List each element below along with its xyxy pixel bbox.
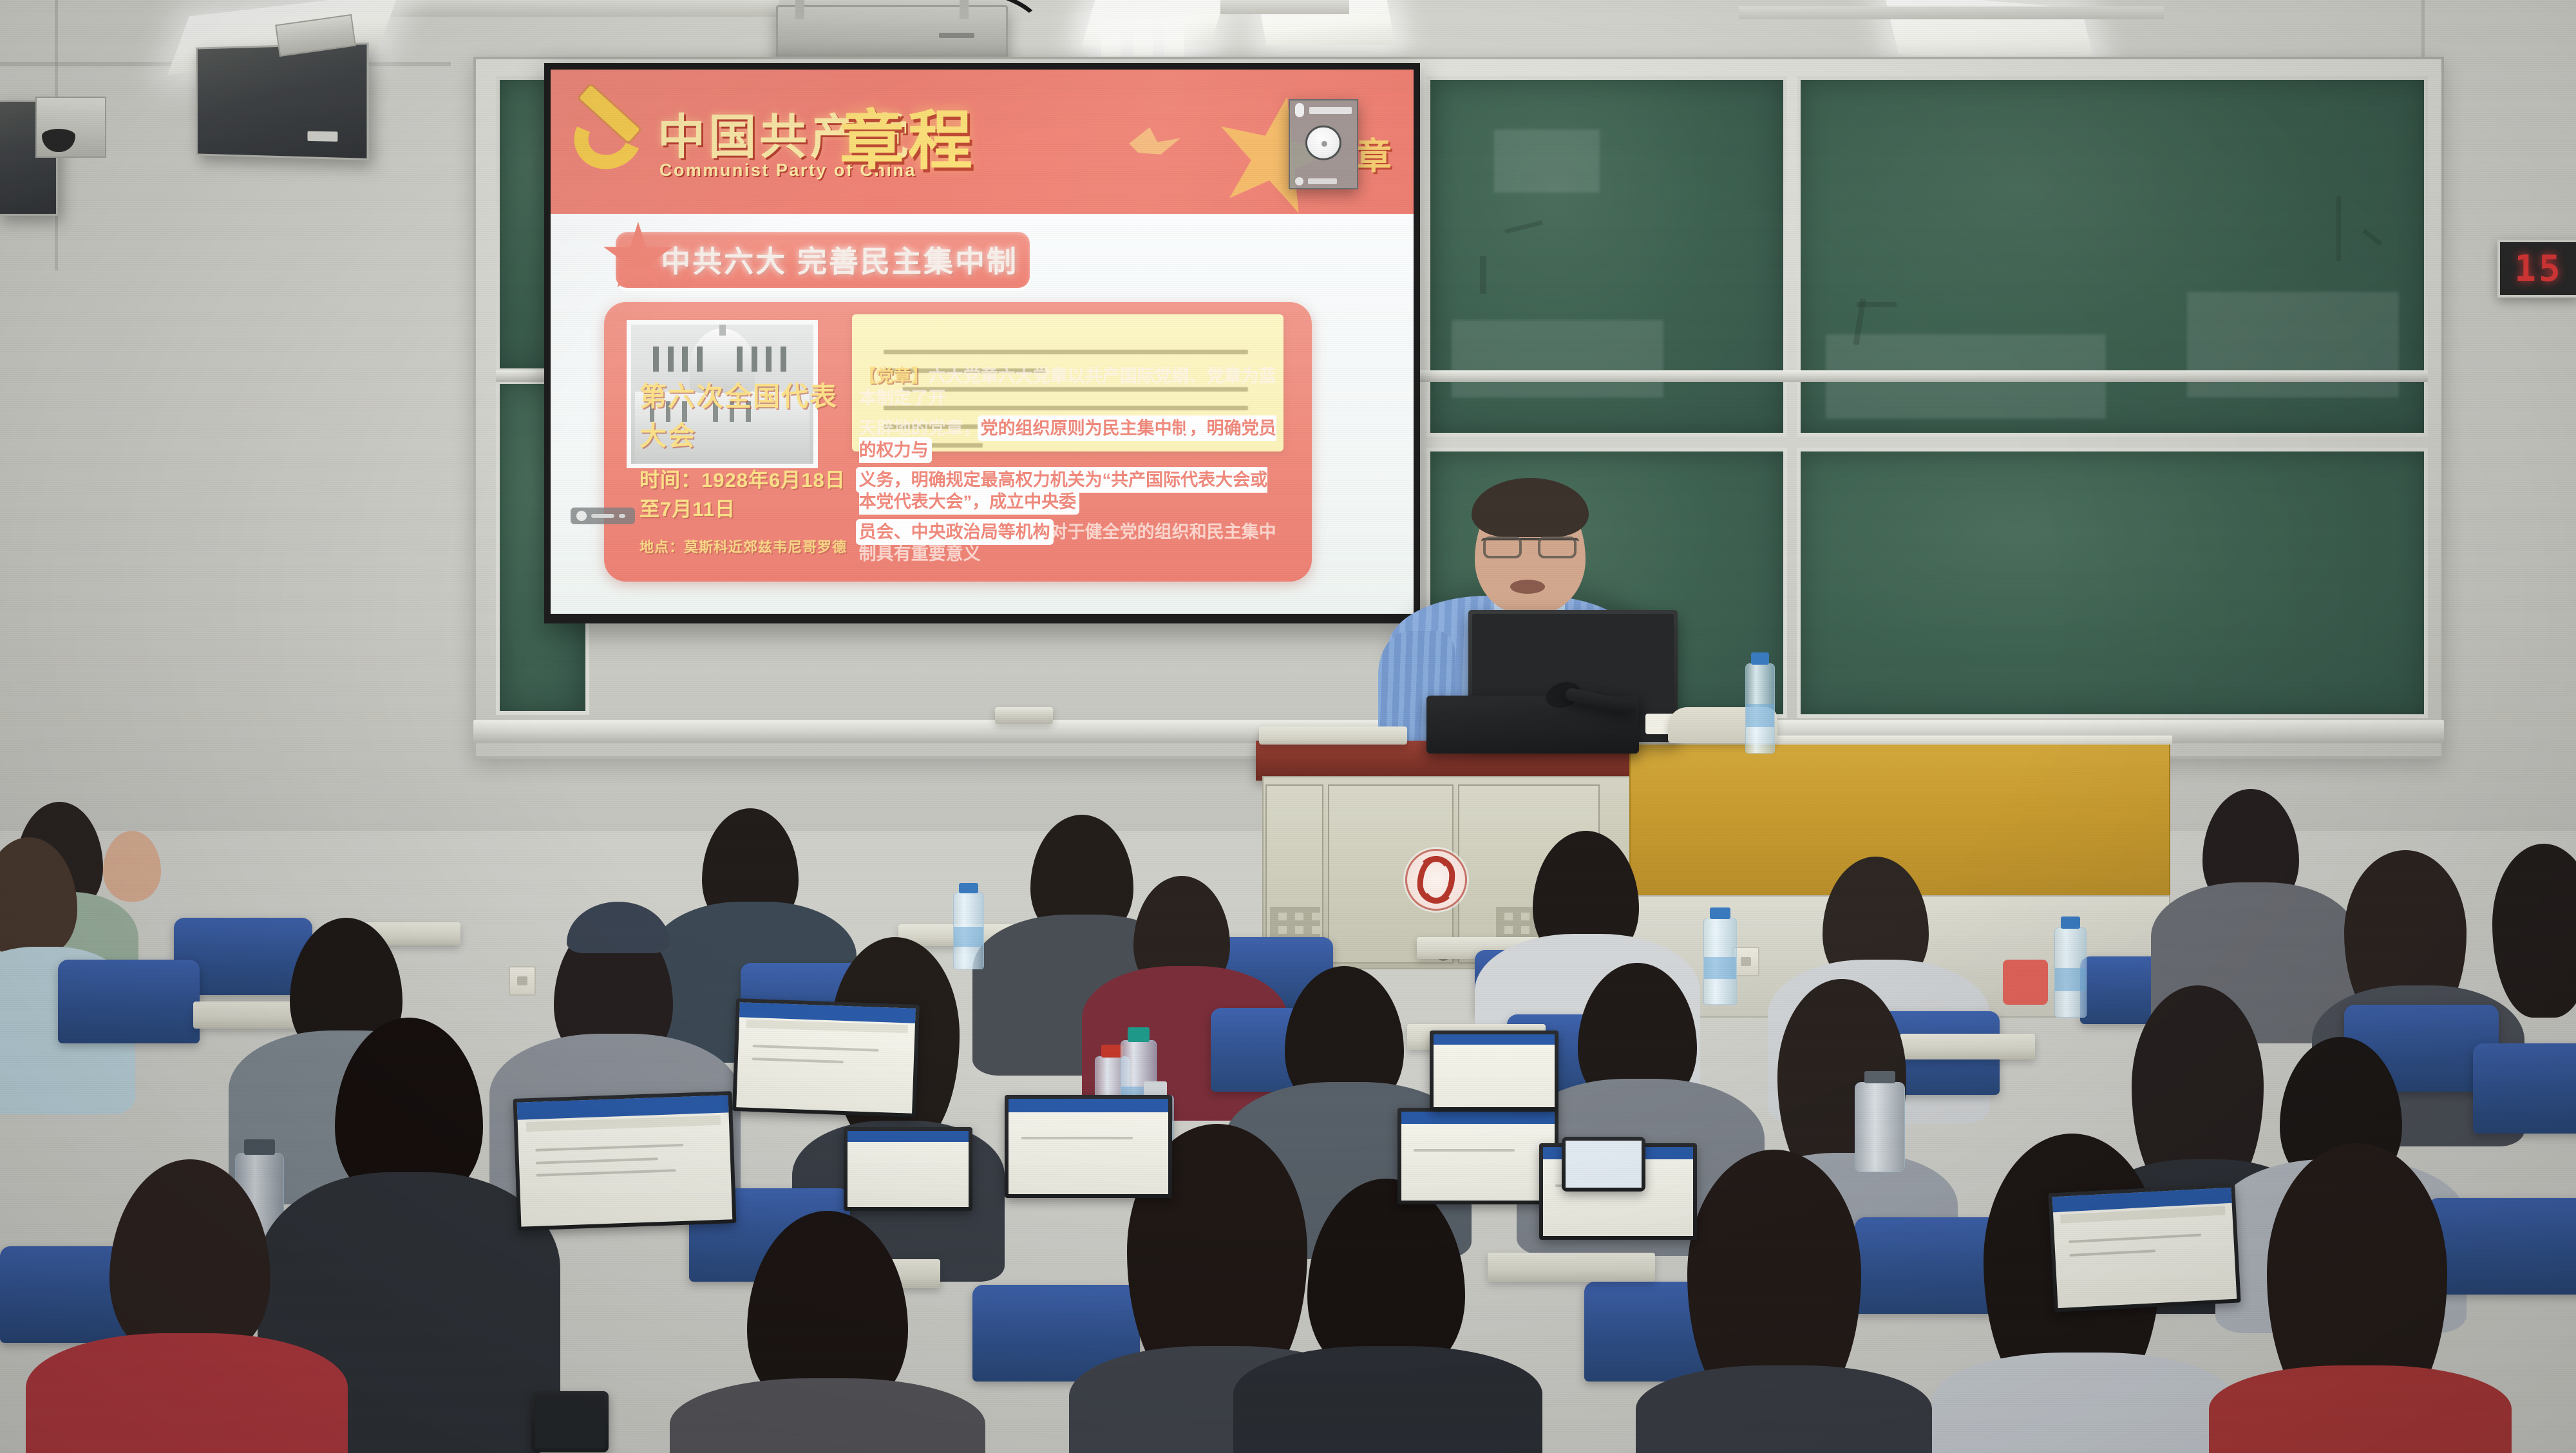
paragraph-line-4-highlight: 员会、中央政治局等机构 bbox=[859, 522, 1050, 542]
speaker-led bbox=[308, 131, 338, 142]
laptop-text-line bbox=[1021, 1137, 1133, 1139]
lecturer-mouth bbox=[1510, 580, 1545, 594]
photo-window bbox=[697, 347, 703, 372]
projector-mount-right bbox=[960, 0, 969, 19]
laptop-screen bbox=[736, 1002, 916, 1113]
student-thermos-3 bbox=[1855, 1082, 1905, 1172]
presenter-toolbar[interactable] bbox=[571, 508, 635, 524]
student-body-c3 bbox=[670, 1378, 985, 1453]
student-head-a10 bbox=[2492, 844, 2576, 1018]
toolbar-round-button[interactable] bbox=[576, 511, 587, 521]
chalk-stroke-b2 bbox=[1857, 302, 1897, 307]
bottle-cap bbox=[2061, 916, 2081, 929]
laptop-text-line bbox=[2069, 1234, 2201, 1244]
paragraph-row-2: 天辟地的党章，党的组织原则为民主集中制，明确党员的权力与 bbox=[859, 418, 1283, 462]
dialog-status-icon bbox=[1295, 177, 1303, 185]
light-rail-1 bbox=[335, 0, 779, 17]
wall-speaker-center bbox=[196, 43, 368, 160]
bottle-cap bbox=[1128, 1027, 1150, 1041]
university-crest-icon bbox=[1405, 849, 1467, 911]
slide-paragraph-block: 【党章】六大党章六大党章以共产国际党纲、党章为蓝本制定了开 天辟地的党章，党的组… bbox=[859, 366, 1283, 573]
podium-keyboard[interactable] bbox=[1259, 726, 1407, 745]
laptop-screen bbox=[1401, 1112, 1555, 1201]
photo-dome-spire bbox=[719, 321, 726, 336]
clock-value: 15 bbox=[2514, 248, 2562, 290]
dialog-statusbar bbox=[1290, 175, 1357, 189]
laptop-screen bbox=[848, 1131, 969, 1207]
student-laptop-8[interactable] bbox=[844, 1127, 972, 1211]
congress-place: 地点：莫斯科近郊兹韦尼哥罗德 bbox=[639, 536, 852, 556]
laptop-text-line bbox=[536, 1144, 684, 1152]
bottle-label bbox=[2055, 968, 2086, 991]
chalk-stroke-a1 bbox=[1504, 220, 1543, 234]
toolbar-segment[interactable] bbox=[619, 514, 625, 518]
student-bottle-2 bbox=[1703, 918, 1737, 1005]
student-tablet[interactable] bbox=[1562, 1137, 1645, 1192]
student-laptop-4[interactable] bbox=[1397, 1108, 1558, 1204]
laptop-text-line bbox=[2070, 1249, 2155, 1257]
chalk-stroke-b4 bbox=[2363, 229, 2383, 245]
photo-window bbox=[668, 347, 674, 372]
dialog-knob-control[interactable] bbox=[1305, 126, 1341, 160]
paragraph-tag: 【党章】 bbox=[859, 366, 929, 386]
chalk-stroke-a2 bbox=[1480, 256, 1486, 294]
hammer-and-sickle-emblem-icon bbox=[571, 93, 648, 180]
laptop-text-line bbox=[752, 1045, 879, 1052]
laptop-text-line bbox=[536, 1169, 676, 1177]
student-body-c6 bbox=[1636, 1365, 1932, 1453]
laptop-screen bbox=[2052, 1188, 2237, 1308]
decorative-star-small-icon bbox=[1129, 128, 1180, 155]
bottle-cap bbox=[1710, 907, 1730, 920]
slide-meta-block: 第六次全国代表大会 时间：1928年6月18日至7月11日 地点：莫斯科近郊兹韦… bbox=[639, 375, 852, 571]
chair-row-c-5[interactable] bbox=[2428, 1198, 2576, 1295]
photo-window bbox=[781, 347, 786, 372]
laptop-text-line bbox=[752, 1058, 844, 1063]
paragraph-row-4: 员会、中央政治局等机构对于健全党的组织和民主集中制具有重要意义 bbox=[859, 522, 1283, 565]
laptop-titlebar bbox=[1434, 1034, 1555, 1045]
laptop-text-line bbox=[536, 1157, 658, 1164]
slide-body: 中共六大 完善民主集中制 bbox=[551, 214, 1414, 614]
student-cap-b2 bbox=[567, 902, 670, 953]
lecturer-water-bottle bbox=[1745, 663, 1775, 754]
laptop-screen bbox=[1434, 1034, 1555, 1107]
chair-row-b-1[interactable] bbox=[58, 960, 200, 1043]
bottle-cap bbox=[959, 883, 978, 894]
student-laptop-1[interactable] bbox=[513, 1091, 737, 1231]
student-laptop-7[interactable] bbox=[1430, 1030, 1558, 1111]
wall-socket-1 bbox=[509, 966, 536, 996]
dialog-titlebar[interactable] bbox=[1290, 100, 1357, 120]
time-label: 时间： bbox=[639, 469, 701, 491]
photo-window bbox=[752, 347, 757, 372]
laptop-screen bbox=[517, 1095, 733, 1226]
student-phone[interactable] bbox=[531, 1391, 609, 1452]
congress-name: 第六次全国代表大会 bbox=[639, 375, 852, 453]
student-body-c5 bbox=[1233, 1346, 1542, 1453]
place-value: 莫斯科近郊兹韦尼哥罗德 bbox=[684, 539, 847, 555]
light-rail-2 bbox=[1220, 0, 1349, 14]
chalk-smudge-a1 bbox=[1494, 129, 1600, 193]
place-label: 地点： bbox=[639, 539, 684, 555]
congress-time: 时间：1928年6月18日至7月11日 bbox=[639, 464, 852, 522]
light-rail-3 bbox=[1739, 6, 2164, 19]
projection-screen[interactable]: 中国共产党 Communist Party of China 章程 章 中共六大… bbox=[551, 70, 1414, 614]
paragraph-line-2-highlight-a: 党的组织原则为民主集中制 bbox=[981, 419, 1189, 438]
student-laptop-3[interactable] bbox=[1005, 1095, 1172, 1198]
slide-content-card: 第六次全国代表大会 时间：1928年6月18日至7月11日 地点：莫斯科近郊兹韦… bbox=[604, 302, 1312, 582]
laptop-titlebar bbox=[1009, 1099, 1168, 1112]
bottle-label bbox=[1704, 957, 1736, 980]
bottle-cap bbox=[1101, 1045, 1122, 1058]
chalkboard-panel-d bbox=[1797, 448, 2428, 718]
bottle-label bbox=[1746, 704, 1774, 727]
row-b-desk-3 bbox=[1900, 1034, 2035, 1059]
lecturer-glasses-lens-left bbox=[1483, 537, 1522, 558]
paragraph-line-3-highlight: 义务，明确规定最高权力机关为“共产国际代表大会或本党代表大会”，成立中央委 bbox=[859, 470, 1268, 511]
student-bottle-3 bbox=[2054, 927, 2087, 1018]
student-body-c8 bbox=[2209, 1365, 2512, 1453]
lecturer-glasses-lens-right bbox=[1538, 537, 1577, 558]
laptop-titlebar bbox=[1401, 1112, 1555, 1124]
chair-row-c-6[interactable] bbox=[0, 1246, 129, 1343]
student-body-c2 bbox=[26, 1333, 348, 1453]
thermos-cap bbox=[1864, 1071, 1896, 1083]
toolbar-segment[interactable] bbox=[591, 514, 614, 518]
student-face-a1 bbox=[103, 831, 161, 902]
laptop-screen bbox=[1009, 1099, 1168, 1194]
student-laptop-2[interactable] bbox=[732, 998, 920, 1117]
slide-section-title: 中共六大 完善民主集中制 bbox=[661, 238, 1018, 281]
chalkboard-panel-b bbox=[1797, 76, 2428, 437]
slide-header-right-mark: 章 bbox=[1356, 128, 1393, 180]
chalk-smudge-a2 bbox=[1452, 320, 1663, 398]
student-mug bbox=[2003, 960, 2048, 1005]
photo-window bbox=[737, 347, 743, 372]
photo-window bbox=[682, 347, 688, 372]
tablet-screen bbox=[1566, 1141, 1642, 1188]
projector-control-dialog[interactable] bbox=[1289, 99, 1358, 189]
slide-section-title-pill: 中共六大 完善民主集中制 bbox=[616, 232, 1030, 288]
thermos-cap bbox=[244, 1139, 274, 1155]
speaker-bracket-left bbox=[35, 97, 106, 158]
dialog-icon bbox=[1295, 103, 1304, 117]
chalkboard-eraser bbox=[995, 707, 1053, 724]
lecture-hall-scene: 中国共产党 Communist Party of China 章程 章 中共六大… bbox=[0, 0, 2576, 1453]
phone-screen bbox=[535, 1395, 605, 1448]
laptop-text-line bbox=[1414, 1149, 1515, 1152]
photo-window bbox=[766, 347, 772, 372]
dialog-title-text bbox=[1309, 107, 1352, 114]
row-c-desk-1 bbox=[1488, 1253, 1655, 1282]
paragraph-row-3: 义务，明确规定最高权力机关为“共产国际代表大会或本党代表大会”，成立中央委 bbox=[859, 470, 1283, 513]
quote-line bbox=[884, 350, 1248, 354]
slide-header: 中国共产党 Communist Party of China 章程 章 bbox=[551, 70, 1414, 214]
wall-digital-clock: 15 bbox=[2497, 240, 2576, 298]
bottle-label bbox=[954, 927, 983, 947]
student-body-c7 bbox=[1932, 1353, 2235, 1453]
chalkboard-panel-a bbox=[1426, 76, 1787, 437]
projector-mount-left bbox=[795, 0, 804, 19]
chalk-stroke-b3 bbox=[2336, 196, 2341, 261]
dialog-status-text bbox=[1308, 178, 1338, 184]
bottle-cap bbox=[1751, 652, 1769, 665]
paragraph-line-2-dim: 天辟地的党章， bbox=[859, 419, 981, 438]
student-bottle-1 bbox=[953, 892, 984, 969]
slide-header-title-suffix: 章程 bbox=[840, 88, 976, 182]
photo-window bbox=[653, 347, 659, 372]
chair-row-b-7[interactable] bbox=[2473, 1043, 2576, 1134]
laptop-titlebar bbox=[848, 1131, 969, 1142]
paragraph-row-1: 【党章】六大党章六大党章以共产国际党纲、党章为蓝本制定了开 bbox=[859, 366, 1283, 410]
student-laptop-6[interactable] bbox=[2048, 1184, 2240, 1313]
